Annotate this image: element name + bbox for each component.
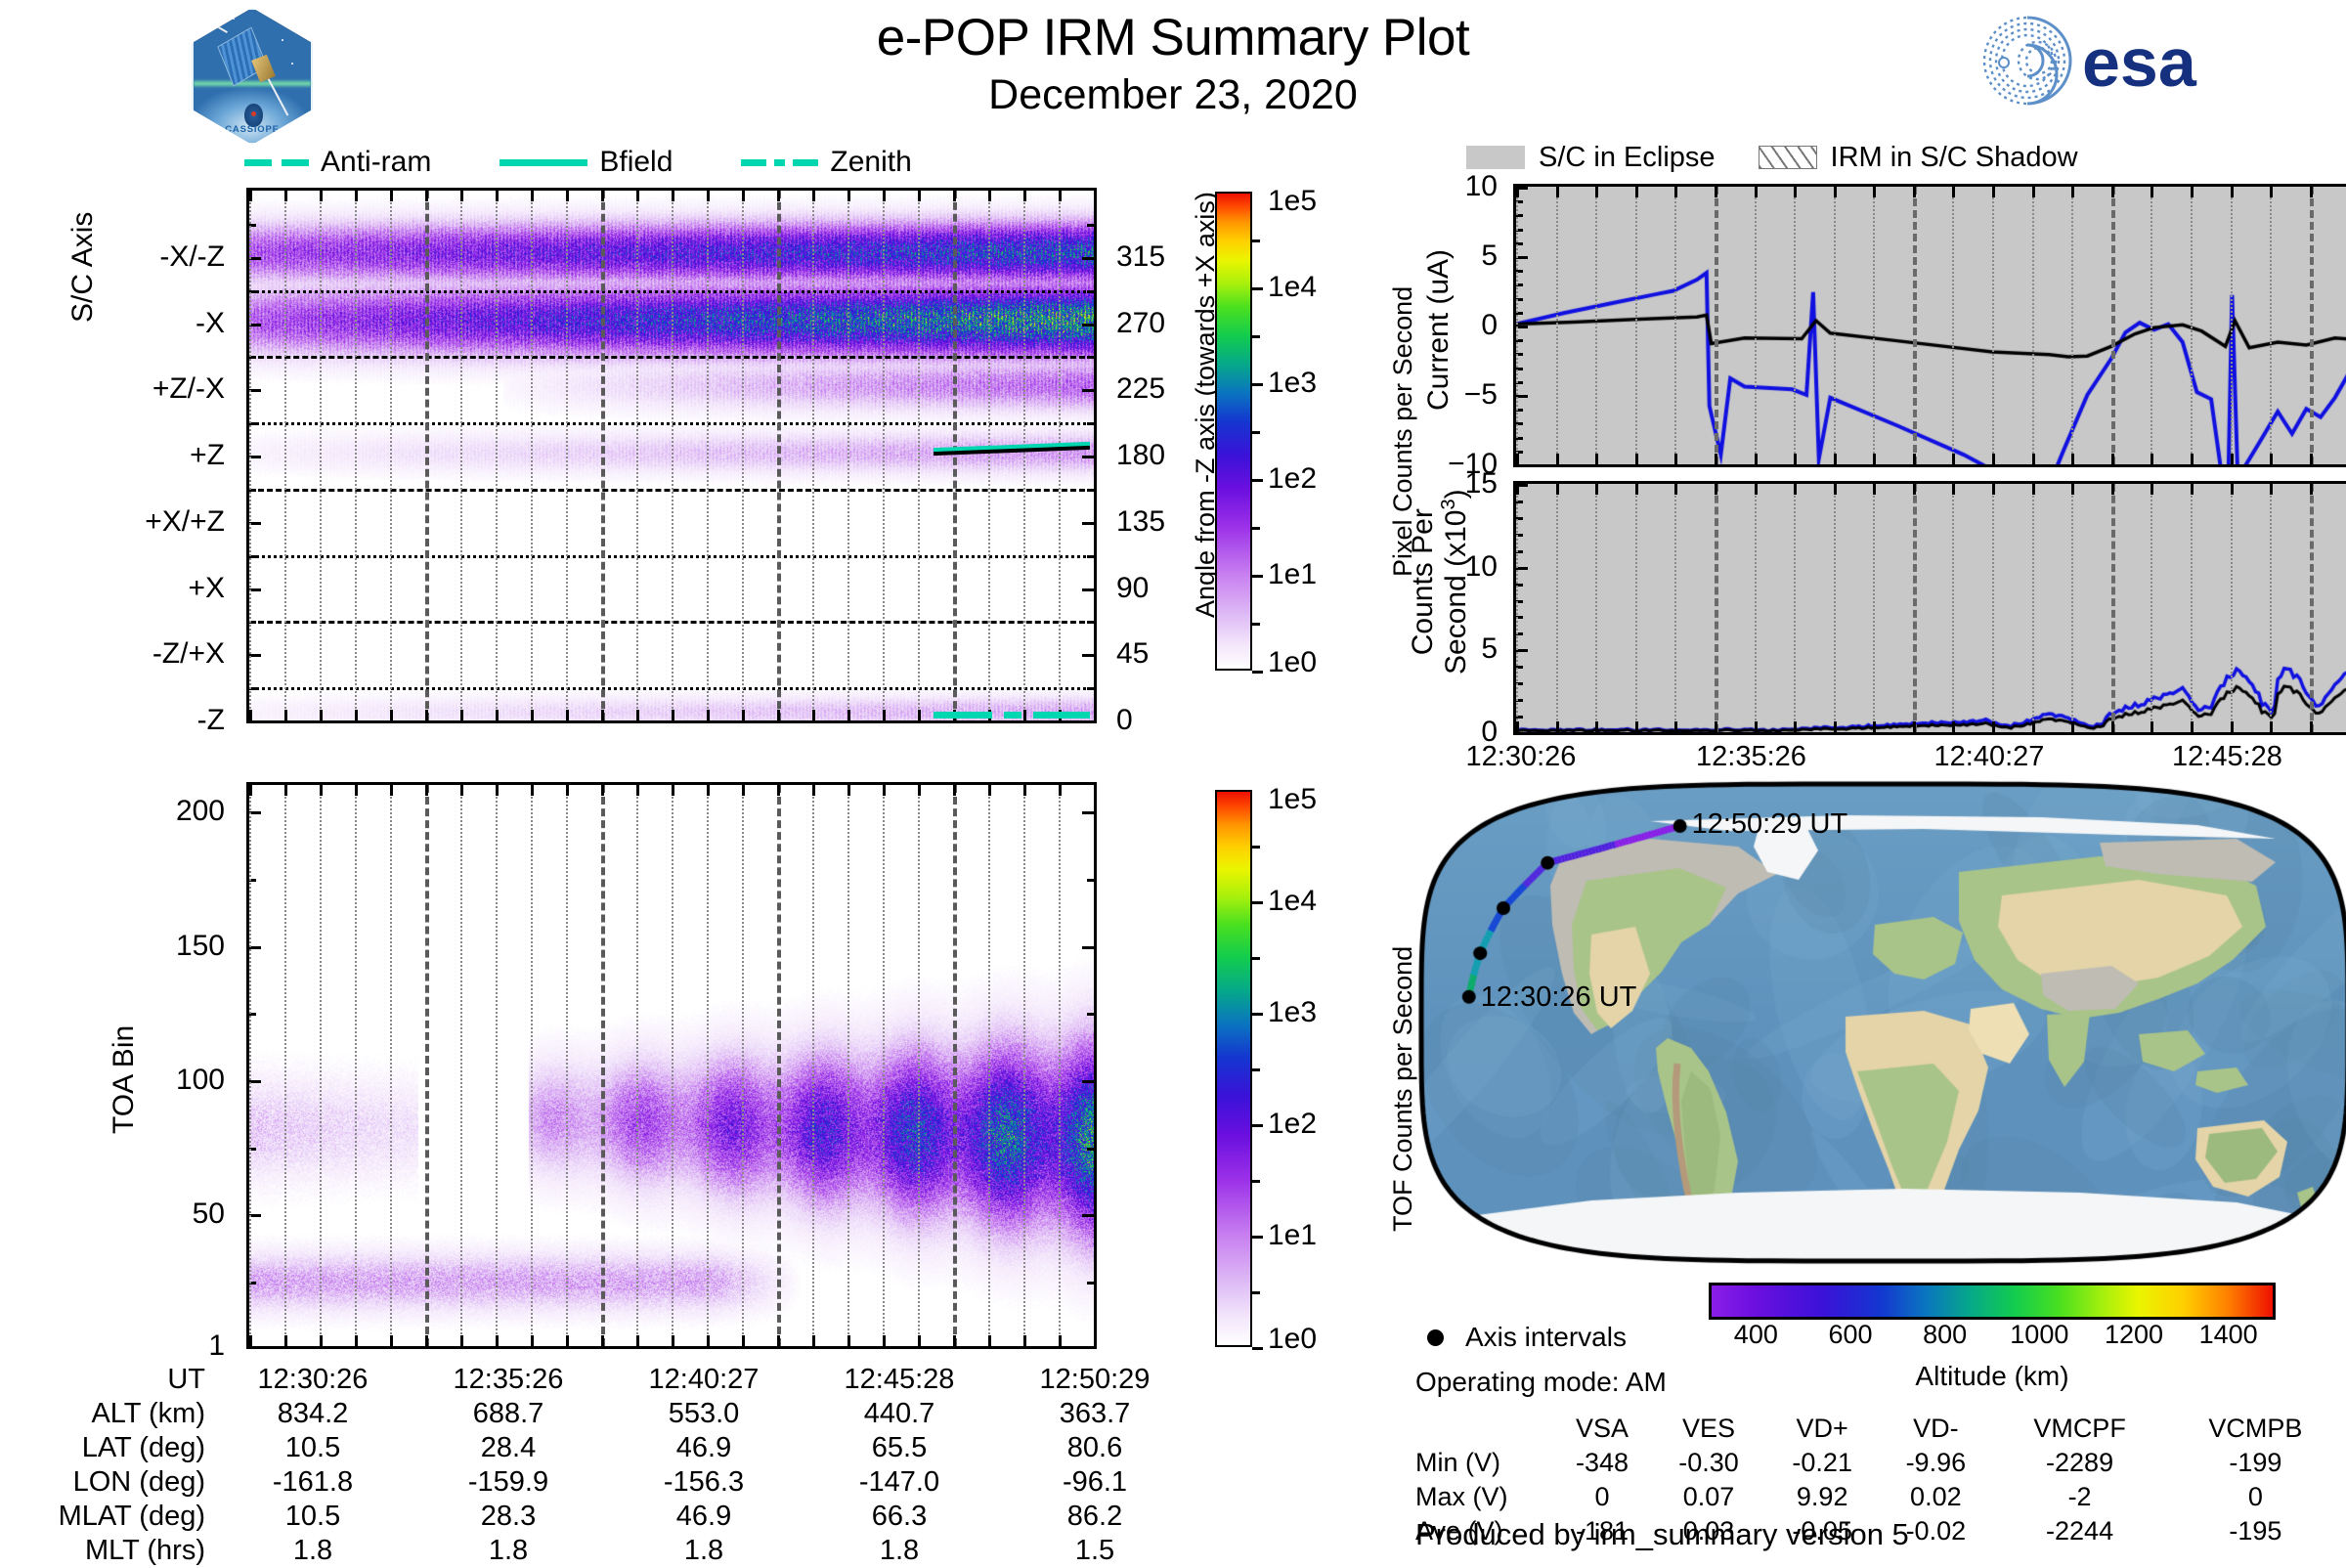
tick-top [1674,484,1677,495]
minor-tick [1087,588,1094,591]
tick-bottom [1992,454,1995,464]
tick-top [601,785,604,796]
tick-top [425,785,428,796]
tick-top [777,785,780,796]
tick-top [355,785,358,796]
ephemeris-row-label: LAT (deg) [20,1431,215,1465]
tick-bottom [742,1335,745,1346]
plot-a-gridline [249,191,251,720]
altitude-colorbar-ticklabels: 400600800100012001400 [1709,1320,2276,1359]
tick-bottom [601,1335,604,1346]
tick-bottom [566,1335,569,1346]
tick-top [2150,187,2153,197]
tick-top [1715,484,1717,495]
colorbar-minor-tick [1252,623,1260,626]
colorbar-tick-1 [1252,287,1263,290]
x-ticklabel-0: 12:30:26 [1466,741,1577,773]
tick-top [1715,187,1717,197]
tick-top [496,191,499,201]
tick-top [2032,187,2035,197]
minor-tick [1087,1148,1094,1151]
tick-bottom [460,1335,463,1346]
tick-top [1674,187,1677,197]
plot-b-gridline [953,785,957,1346]
tick-top [672,191,674,201]
tick-top [1094,191,1097,201]
plot-b-gridline [601,785,605,1346]
plot-a-ytick-right-0: 315 [1116,240,1165,274]
tick-top [1794,187,1797,197]
plot-a-gridline [531,191,533,720]
ephemeris-cell: 10.5 [215,1431,411,1465]
tick-bottom [460,710,463,720]
gridline [1873,484,1875,732]
minor-tick [1087,1214,1094,1217]
ytick-3: 5 [1481,240,1498,273]
minor-tick [1087,224,1094,227]
plot-a-ytick-left-7: -Z [197,704,225,737]
dashed-line-swatch [244,159,309,166]
gridline [1635,187,1637,464]
colorbar-ticklabel-5: 1e0 [1268,1323,1317,1356]
tick-bottom [496,710,499,720]
ephemeris-row-label: LON (deg) [20,1465,215,1500]
gridline [2310,187,2314,464]
dashdot-line-swatch [741,159,818,166]
tick-bottom [1635,454,1638,464]
colorbar-tick-1 [1252,901,1263,904]
ephemeris-row-label: ALT (km) [20,1397,215,1431]
tick-bottom [1023,710,1026,720]
colorbar-ticklabel-0: 1e5 [1268,185,1317,218]
gridline [1873,187,1875,464]
tick-bottom [2231,721,2234,732]
ephemeris-cell: 1.8 [411,1534,606,1568]
legend-label-irm-shadow: IRM in S/C Shadow [1831,142,2078,174]
gridline [1755,484,1757,732]
esa-wordmark: esa [2082,24,2197,101]
pixel-counts-colorbar-ticklabels: 1e51e41e31e21e11e0 [1252,192,1409,671]
tick-top [953,191,956,201]
tick-top [390,191,393,201]
plot-a-tick-r [1082,720,1094,723]
tick-bottom [1834,721,1837,732]
gridline [1992,484,1994,732]
plot-a-ytick-right-6: 45 [1116,637,1149,671]
tick-bottom [2111,721,2114,732]
altitude-ticklabel-2: 800 [1923,1320,1967,1350]
tick-bottom [284,710,287,720]
ephemeris-cell: 1.8 [215,1534,411,1568]
tick-top [355,191,358,201]
hatch-fill-swatch [1759,146,1817,169]
tick-l [1516,732,1528,735]
tick-bottom [284,1335,287,1346]
voltage-column-header: VD- [1879,1412,1992,1446]
tick-bottom [1794,454,1797,464]
tick-top [1952,187,1955,197]
tick-bottom [636,710,639,720]
tick-top [707,191,710,201]
voltage-row-label: Max (V) [1415,1480,1552,1514]
tick-bottom [390,1335,393,1346]
tick-bottom [883,1335,886,1346]
tick-top [1873,187,1876,197]
sc-axis-spectrogram [246,188,1097,723]
tick-bottom [1556,454,1559,464]
gridline [2071,187,2073,464]
plot-a-zenith-trace-0 [934,712,992,719]
grey-fill-swatch [1466,146,1525,169]
plot-a-ytick-left-0: -X/-Z [159,240,225,274]
right-plot-legend: S/C in Eclipse IRM in S/C Shadow [1466,141,2326,174]
ephemeris-cell: 66.3 [802,1500,997,1534]
plot-a-gridline [1059,191,1061,720]
ephemeris-cell: 46.9 [606,1431,802,1465]
tick-top [1834,484,1837,495]
gridline [2191,484,2193,732]
tick-bottom [2231,454,2234,464]
colorbar-ticklabel-4: 1e1 [1268,1219,1317,1252]
tick-bottom [1094,1335,1097,1346]
gridline [1794,187,1796,464]
tick-top [2111,484,2114,495]
tick-top [2270,187,2273,197]
plot-b-gridline [320,785,322,1346]
tick-bottom [672,1335,674,1346]
legend-item-irm-shadow: IRM in S/C Shadow [1759,142,2121,174]
cassiope-logo-caption: CASSIOPE [194,124,311,135]
voltage-cell: -0.21 [1765,1446,1879,1480]
tick-top [1059,191,1062,201]
voltage-cell: -195 [2167,1514,2344,1548]
ephemeris-cell: 440.7 [802,1397,997,1431]
tick-top [742,785,745,796]
ephemeris-cell: 86.2 [997,1500,1193,1534]
gridline [1715,187,1718,464]
tick-bottom [953,1335,956,1346]
plot-b-tick-l [249,1346,261,1349]
colorbar-minor-tick [1252,431,1260,434]
tick-bottom [2071,454,2074,464]
tick-bottom [1094,710,1097,720]
tick-top [847,785,850,796]
plot-a-gridline [988,191,990,720]
plot-a-gridline [742,191,744,720]
minor-tick [1087,811,1094,814]
ephemeris-table: UT12:30:2612:35:2612:40:2712:45:2812:50:… [20,1363,1193,1568]
tick-bottom [2270,721,2273,732]
plot-b-ytick-1: 150 [176,930,225,963]
ephemeris-cell: 80.6 [997,1431,1193,1465]
tick-top [460,785,463,796]
ephemeris-cell: 12:50:29 [997,1363,1193,1397]
map-start-time-label: 12:30:26 UT [1481,981,1637,1014]
tick-bottom [1595,721,1598,732]
axis-intervals-legend: Axis intervals [1427,1322,1627,1353]
plot-a-zenith-trace-1 [1004,712,1021,719]
plot-a-ytick-right-1: 270 [1116,307,1165,340]
tick-bottom [1595,454,1598,464]
voltage-cell: -2244 [1992,1514,2166,1548]
plot-b-gridline [883,785,885,1346]
tick-top [1992,187,1995,197]
tick-top [2150,484,2153,495]
plot-a-gridline [1094,191,1096,720]
tick-top [1516,187,1519,197]
plot-a-ytick-right-7: 0 [1116,704,1133,737]
legend-item-bfield: Bfield [500,146,673,179]
tick-bottom [812,710,815,720]
tick-bottom [847,1335,850,1346]
colorbar-tick-2 [1252,1013,1263,1016]
tick-bottom [2032,721,2035,732]
plot-a-zenith-trace-2 [1033,712,1090,719]
toa-bin-spectrogram [246,782,1097,1349]
tick-top [1834,187,1837,197]
tick-bottom [425,710,428,720]
plot-a-ytick-left-3: +Z [190,439,225,472]
plot-a-gridline [460,191,462,720]
tick-bottom [672,710,674,720]
tick-bottom [1715,721,1717,732]
tick-top [531,785,534,796]
altitude-colorbar-title: Altitude (km) [1709,1361,2276,1392]
tick-top [284,785,287,796]
ephemeris-cell: -96.1 [997,1465,1193,1500]
plot-a-ytick-right-3: 180 [1116,439,1165,472]
legend-label-bfield: Bfield [599,146,673,179]
ephemeris-cell: 65.5 [802,1431,997,1465]
tick-top [953,785,956,796]
ephemeris-cell: -159.9 [411,1465,606,1500]
plot-a-tick-l [249,720,261,723]
tick-top [1755,484,1758,495]
colorbar-ticklabel-1: 1e4 [1268,885,1317,918]
plot-b-gridline [390,785,392,1346]
tick-top [2231,187,2234,197]
tick-bottom [320,1335,323,1346]
plot-b-gridline [425,785,429,1346]
plot-b-gridline [1059,785,1061,1346]
voltage-cell: 0.02 [1879,1480,1992,1514]
altitude-colorbar [1709,1283,2276,1320]
tick-top [636,785,639,796]
tick-bottom [1794,721,1797,732]
gridline [1674,187,1676,464]
voltage-cell: -0.30 [1652,1446,1765,1480]
tick-bottom [707,710,710,720]
gridline [2310,484,2314,732]
tick-bottom [566,710,569,720]
tick-top [918,191,921,201]
plot-b-gridline [918,785,920,1346]
operating-mode-label: Operating mode: AM [1415,1367,1667,1398]
legend-label-sc-eclipse: S/C in Eclipse [1539,142,1716,174]
tick-top [707,785,710,796]
plot-a-ytick-right-5: 90 [1116,572,1149,605]
tick-bottom [2150,454,2153,464]
ephemeris-row: UT12:30:2612:35:2612:40:2712:45:2812:50:… [20,1363,1193,1397]
colorbar-minor-tick [1252,1180,1260,1183]
colorbar-minor-tick [1252,240,1260,242]
tick-bottom [2150,721,2153,732]
ephemeris-row: LON (deg)-161.8-159.9-156.3-147.0-96.1 [20,1465,1193,1500]
plot-a-right-ticklabels: 31527022518013590450 [1103,188,1191,723]
ephemeris-cell: 688.7 [411,1397,606,1431]
plot-a-left-ticklabels: -X/-Z-X+Z/-X+Z+X/+Z+X-Z/+X-Z [0,188,239,723]
tick-top [2310,484,2313,495]
tick-top [284,191,287,201]
ephemeris-row-label: MLT (hrs) [20,1534,215,1568]
current-timeseries-plot [1513,184,2346,467]
plot-b-gridline [636,785,638,1346]
plot-d-ticklabels: 051015 [1408,481,1509,735]
tick-bottom [425,1335,428,1346]
ytick-4: 10 [1465,170,1498,203]
ephemeris-cell: 10.5 [215,1500,411,1534]
voltage-cell: -2 [1992,1480,2166,1514]
voltage-cell: -199 [2167,1446,2344,1480]
tick-top [883,785,886,796]
tick-bottom [636,1335,639,1346]
tof-counts-colorbar-ticklabels: 1e51e41e31e21e11e0 [1252,790,1409,1347]
minor-tick [1516,464,1523,467]
solid-line-swatch [500,159,587,166]
tick-bottom [1913,454,1916,464]
plot-a-ytick-left-6: -Z/+X [152,637,225,671]
tick-bottom [496,1335,499,1346]
ephemeris-cell: 1.5 [997,1534,1193,1568]
tof-counts-colorbar-title: TOF Counts per Second [1388,946,1418,1232]
voltage-column-header: VSA [1552,1412,1652,1446]
voltage-column-header: VCMPB [2167,1412,2344,1446]
tick-bottom [2071,721,2074,732]
voltage-header-blank [1415,1412,1552,1446]
plot-c-ticklabels: −10−50510 [1408,184,1509,467]
tick-top [1873,484,1876,495]
plot-a-gridline [390,191,392,720]
colorbar-minor-tick [1252,846,1260,849]
tick-top [1635,187,1638,197]
tick-bottom [1674,454,1677,464]
gridline [1755,187,1757,464]
plot-b-gridline [988,785,990,1346]
minor-tick [1087,522,1094,525]
tick-top [1913,187,1916,197]
tick-top [812,191,815,201]
gridline [1595,484,1597,732]
gridline [1516,484,1518,732]
tick-top [672,785,674,796]
tick-bottom [1635,721,1638,732]
gridline [2032,484,2034,732]
plot-a-gridline [1023,191,1025,720]
minor-tick [1087,879,1094,882]
tick-bottom [1674,721,1677,732]
tick-bottom [390,710,393,720]
ephemeris-row: MLT (hrs)1.81.81.81.81.5 [20,1534,1193,1568]
colorbar-ticklabel-2: 1e3 [1268,996,1317,1029]
minor-tick [1087,456,1094,458]
gridline [2150,484,2152,732]
counts-timeseries-plot [1513,481,2346,735]
tick-bottom [355,1335,358,1346]
plot-b-gridline [847,785,849,1346]
gridline [1913,187,1917,464]
gridline [1595,187,1597,464]
minor-tick [1087,389,1094,392]
plot-b-ytick-4: 1 [208,1329,225,1363]
tick-top [320,191,323,201]
tick-bottom [707,1335,710,1346]
tick-bottom [2191,721,2194,732]
colorbar-minor-tick [1252,1068,1260,1071]
tick-top [390,785,393,796]
voltage-cell: 0.07 [1652,1480,1765,1514]
tick-top [1059,785,1062,796]
tick-top [566,191,569,201]
plot-a-ytick-left-4: +X/+Z [145,505,225,539]
colorbar-tick-5 [1252,671,1263,674]
ephemeris-cell: -161.8 [215,1465,411,1500]
gridline [1556,187,1558,464]
tick-top [1556,187,1559,197]
tick-top [988,191,991,201]
gridline [1516,187,1518,464]
voltage-column-header: VD+ [1765,1412,1879,1446]
ytick-1: −5 [1464,378,1498,412]
tick-bottom [1873,454,1876,464]
colorbar-ticklabel-2: 1e3 [1268,367,1317,400]
gridline [2191,187,2193,464]
ephemeris-cell: 1.8 [802,1534,997,1568]
plot-b-ytick-2: 100 [176,1064,225,1097]
legend-label-anti-ram: Anti-ram [321,146,431,179]
gridline [1794,484,1796,732]
plot-a-ytick-right-2: 225 [1116,372,1165,406]
gridline [1834,484,1836,732]
ephemeris-cell: -147.0 [802,1465,997,1500]
tick-bottom [2032,454,2035,464]
plot-a-gridline [918,191,920,720]
legend-label-zenith: Zenith [830,146,911,179]
tick-l [1516,464,1528,467]
minor-tick [1087,1013,1094,1016]
ephemeris-cell: -156.3 [606,1465,802,1500]
plot-a-gridline [601,191,605,720]
gridline [1834,187,1836,464]
tick-top [777,191,780,201]
legend-item-anti-ram: Anti-ram [244,146,431,179]
tick-bottom [918,1335,921,1346]
tick-top [2270,484,2273,495]
tick-top [1516,484,1519,495]
plot-a-gridline [707,191,709,720]
plot-b-ytick-0: 200 [176,795,225,828]
minor-tick [1087,1080,1094,1083]
minor-tick [1087,257,1094,260]
gridline [2032,187,2034,464]
plot-a-gridline [496,191,498,720]
plot-b-gridline [1094,785,1096,1346]
tick-bottom [531,710,534,720]
colorbar-tick-5 [1252,1347,1263,1350]
gridline [2231,187,2233,464]
gridline [2231,484,2233,732]
plot-b-gridline [1023,785,1025,1346]
tick-bottom [988,1335,991,1346]
